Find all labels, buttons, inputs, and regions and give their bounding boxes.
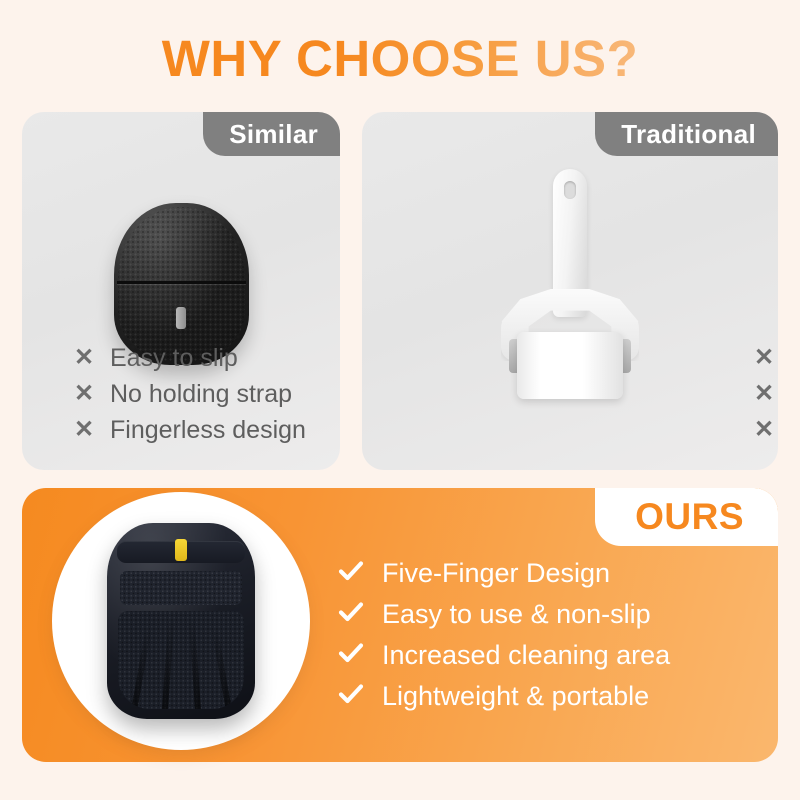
benefit-label: Increased cleaning area bbox=[382, 639, 670, 671]
benefit-label: Easy to use & non-slip bbox=[382, 598, 651, 630]
benefit-label: Five-Finger Design bbox=[382, 557, 610, 589]
x-mark-icon: ✕ bbox=[74, 346, 94, 370]
roller-hang-hole bbox=[564, 181, 576, 199]
check-mark-icon bbox=[338, 681, 364, 711]
pad-mesh-band bbox=[120, 571, 242, 605]
check-mark-icon bbox=[338, 640, 364, 670]
x-mark-icon: ✕ bbox=[754, 418, 774, 442]
drawback-label: Easy to slip bbox=[110, 343, 238, 373]
benefit-item: Lightweight & portable bbox=[338, 675, 768, 716]
drawback-item: ✕ No holding strap bbox=[74, 376, 326, 412]
roller-barrel bbox=[517, 332, 623, 399]
finger-slot bbox=[189, 617, 202, 709]
x-mark-icon: ✕ bbox=[754, 382, 774, 406]
drawback-item: ✕ Fingerless design bbox=[74, 412, 326, 448]
x-mark-icon: ✕ bbox=[74, 418, 94, 442]
five-finger-glove-pad-icon bbox=[107, 523, 255, 719]
drawback-list-traditional: ✕ Small hair removal area ✕ Incomplete h… bbox=[754, 340, 764, 448]
lint-roller-icon bbox=[495, 169, 645, 399]
pad-grey-tab bbox=[176, 307, 186, 329]
benefit-item: Five-Finger Design bbox=[338, 552, 768, 593]
drawback-list-similar: ✕ Easy to slip ✕ No holding strap ✕ Fing… bbox=[74, 340, 326, 448]
pad-finger-area bbox=[118, 611, 244, 709]
finger-slot bbox=[211, 627, 232, 709]
finger-slot bbox=[130, 627, 151, 709]
benefit-label: Lightweight & portable bbox=[382, 680, 649, 712]
ours-badge: OURS bbox=[595, 488, 778, 546]
pad-yellow-tab bbox=[175, 539, 187, 561]
drawback-item: ✕ Incomplete hair removal bbox=[754, 376, 764, 412]
benefit-item: Increased cleaning area bbox=[338, 634, 768, 675]
check-mark-icon bbox=[338, 558, 364, 588]
comparison-card-similar: Similar ✕ Easy to slip ✕ No holding stra… bbox=[22, 112, 340, 470]
check-mark-icon bbox=[338, 599, 364, 629]
benefit-list: Five-Finger Design Easy to use & non-sli… bbox=[338, 552, 768, 716]
benefit-item: Easy to use & non-slip bbox=[338, 593, 768, 634]
finger-slot bbox=[162, 617, 175, 709]
drawback-item: ✕ Small hair removal area bbox=[754, 340, 764, 376]
pad-seam bbox=[117, 281, 246, 284]
drawback-label: Fingerless design bbox=[110, 415, 306, 445]
drawback-label: No holding strap bbox=[110, 379, 292, 409]
page-title: WHY CHOOSE US? bbox=[0, 28, 800, 90]
product-image-ours bbox=[52, 492, 310, 750]
x-mark-icon: ✕ bbox=[74, 382, 94, 406]
comparison-card-traditional: Traditional ✕ Small hair removal area ✕ … bbox=[362, 112, 778, 470]
drawback-item: ✕ Easy to slip bbox=[74, 340, 326, 376]
drawback-item: ✕ Not durable bbox=[754, 412, 764, 448]
x-mark-icon: ✕ bbox=[754, 346, 774, 370]
product-image-traditional bbox=[362, 134, 778, 434]
